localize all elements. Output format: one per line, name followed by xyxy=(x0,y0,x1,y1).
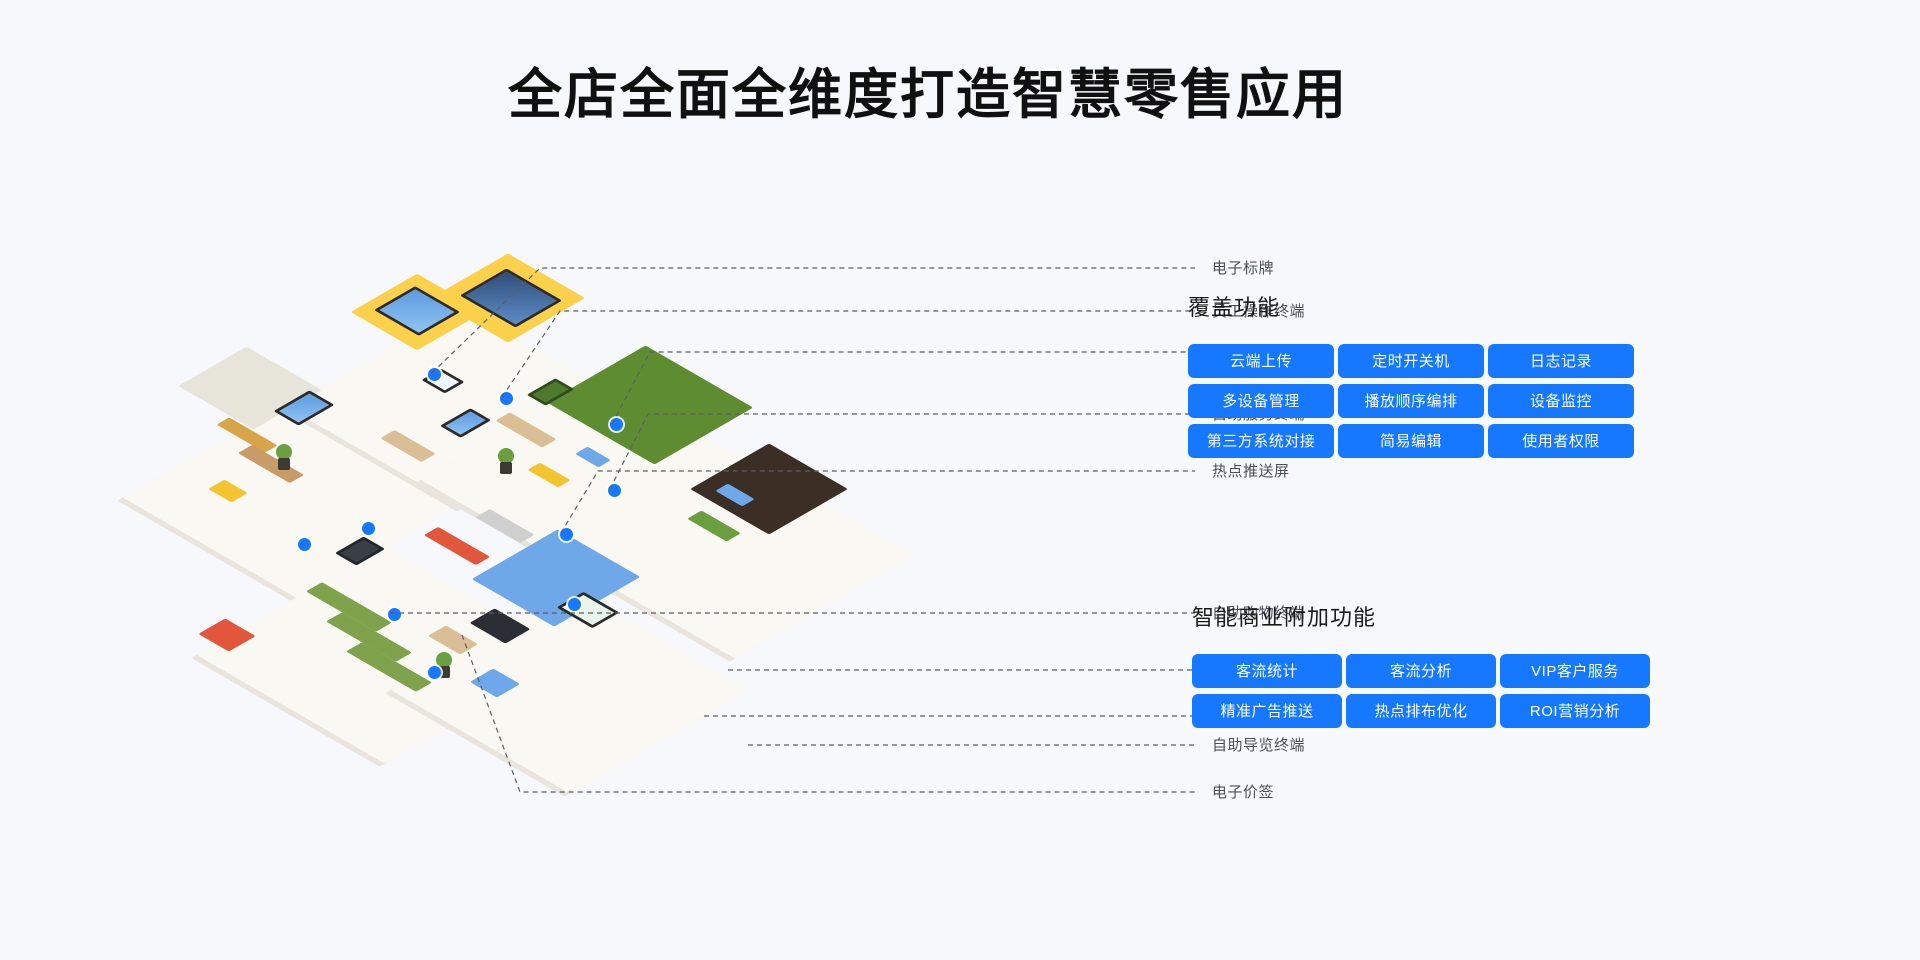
feature-button-simple-editing[interactable]: 简易编辑 xyxy=(1338,424,1484,458)
callout-dot-hotspot-screen[interactable] xyxy=(560,528,573,541)
addon-button-hotspot-layout[interactable]: 热点排布优化 xyxy=(1346,694,1496,728)
callout-dot-store-server[interactable] xyxy=(428,666,441,679)
smart-business-addons-heading: 智能商业附加功能 xyxy=(1192,600,1650,632)
feature-button-user-permissions[interactable]: 使用者权限 xyxy=(1488,424,1634,458)
feature-button-cloud-upload[interactable]: 云端上传 xyxy=(1188,344,1334,378)
addon-button-vip-service[interactable]: VIP客户服务 xyxy=(1500,654,1650,688)
callout-dot-self-service[interactable] xyxy=(608,484,621,497)
callout-dot-price-tag[interactable] xyxy=(362,522,375,535)
coverage-features-button-grid: 云端上传 定时开关机 日志记录 多设备管理 播放顺序编排 设备监控 第三方系统对… xyxy=(1188,344,1634,458)
page-title: 全店全面全维度打造智慧零售应用 xyxy=(0,60,1920,130)
feature-button-scheduled-power[interactable]: 定时开关机 xyxy=(1338,344,1484,378)
plant-pot xyxy=(278,458,290,470)
feature-button-third-party-docking[interactable]: 第三方系统对接 xyxy=(1188,424,1334,458)
addon-button-targeted-ads[interactable]: 精准广告推送 xyxy=(1192,694,1342,728)
callout-dot-staff-terminal[interactable] xyxy=(500,392,513,405)
coverage-features-heading: 覆盖功能 xyxy=(1188,290,1634,322)
addon-button-traffic-analysis[interactable]: 客流分析 xyxy=(1346,654,1496,688)
smart-business-button-grid: 客流统计 客流分析 VIP客户服务 精准广告推送 热点排布优化 ROI营销分析 xyxy=(1192,654,1650,728)
callout-dot-ad-screen[interactable] xyxy=(610,418,623,431)
addon-button-traffic-stats[interactable]: 客流统计 xyxy=(1192,654,1342,688)
feature-button-multi-device-mgmt[interactable]: 多设备管理 xyxy=(1188,384,1334,418)
feature-button-playback-order[interactable]: 播放顺序编排 xyxy=(1338,384,1484,418)
feature-button-log-record[interactable]: 日志记录 xyxy=(1488,344,1634,378)
produce-display xyxy=(424,527,490,565)
plant-pot xyxy=(500,462,512,474)
callout-dot-pos[interactable] xyxy=(298,538,311,551)
coverage-features-panel: 覆盖功能 云端上传 定时开关机 日志记录 多设备管理 播放顺序编排 设备监控 第… xyxy=(1188,290,1634,458)
callout-dot-shopping-terminal[interactable] xyxy=(388,608,401,621)
callout-dot-electronic-signage[interactable] xyxy=(428,368,441,381)
isometric-store-illustration xyxy=(180,200,960,820)
feature-button-device-monitoring[interactable]: 设备监控 xyxy=(1488,384,1634,418)
callout-dot-guide-terminal[interactable] xyxy=(568,598,581,611)
smart-business-addons-panel: 智能商业附加功能 客流统计 客流分析 VIP客户服务 精准广告推送 热点排布优化… xyxy=(1192,600,1650,728)
addon-button-roi-analysis[interactable]: ROI营销分析 xyxy=(1500,694,1650,728)
